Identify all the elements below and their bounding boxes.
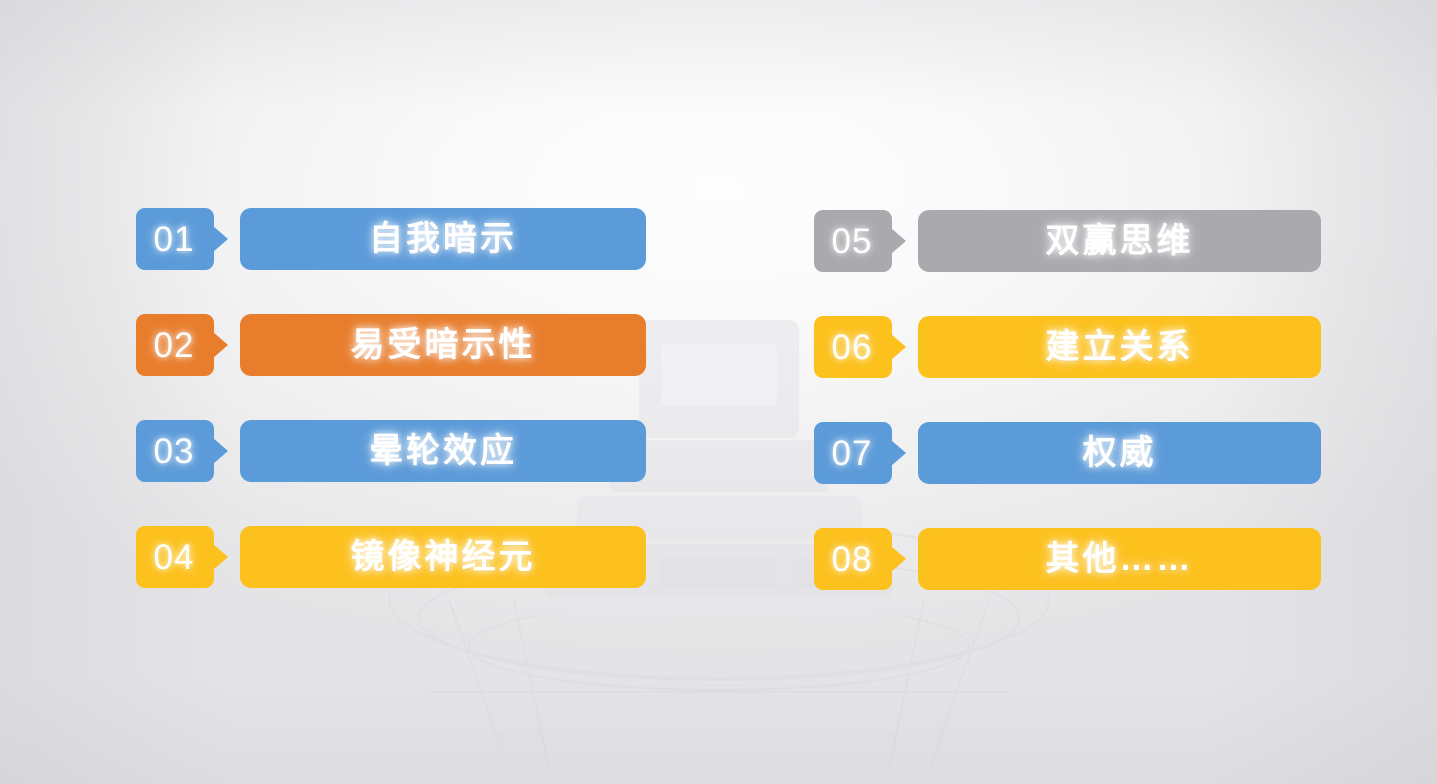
item-number-label: 05 <box>832 224 873 259</box>
item-label-bar[interactable]: 镜像神经元 <box>240 526 646 588</box>
item-number-label: 04 <box>154 540 195 575</box>
item-label-bar[interactable]: 晕轮效应 <box>240 420 646 482</box>
list-item[interactable]: 01自我暗示 <box>136 208 646 270</box>
left-column: 01自我暗示02易受暗示性03晕轮效应04镜像神经元 <box>136 0 646 784</box>
item-number-badge[interactable]: 01 <box>136 208 214 270</box>
item-number-badge[interactable]: 06 <box>814 316 892 378</box>
item-label-bar[interactable]: 易受暗示性 <box>240 314 646 376</box>
item-number-label: 07 <box>832 436 873 471</box>
list-item[interactable]: 07权威 <box>814 422 1324 484</box>
slide-canvas: 01自我暗示02易受暗示性03晕轮效应04镜像神经元 05双赢思维06建立关系0… <box>0 0 1437 784</box>
item-number-badge[interactable]: 04 <box>136 526 214 588</box>
list-item[interactable]: 04镜像神经元 <box>136 526 646 588</box>
list-item[interactable]: 02易受暗示性 <box>136 314 646 376</box>
item-number-badge[interactable]: 07 <box>814 422 892 484</box>
item-label-bar[interactable]: 建立关系 <box>918 316 1321 378</box>
item-label-bar[interactable]: 权威 <box>918 422 1321 484</box>
item-title-text: 易受暗示性 <box>351 328 536 362</box>
list-item[interactable]: 03晕轮效应 <box>136 420 646 482</box>
right-column: 05双赢思维06建立关系07权威08其他…… <box>814 0 1324 784</box>
list-item[interactable]: 06建立关系 <box>814 316 1324 378</box>
item-number-label: 02 <box>154 328 195 363</box>
item-number-label: 01 <box>154 222 195 257</box>
item-title-text: 其他…… <box>1046 542 1194 576</box>
item-title-text: 权威 <box>1083 436 1157 470</box>
item-title-text: 镜像神经元 <box>351 540 536 574</box>
item-number-badge[interactable]: 08 <box>814 528 892 590</box>
item-title-text: 双赢思维 <box>1046 224 1194 258</box>
item-label-bar[interactable]: 自我暗示 <box>240 208 646 270</box>
item-number-label: 06 <box>832 330 873 365</box>
item-number-label: 08 <box>832 542 873 577</box>
list-item[interactable]: 05双赢思维 <box>814 210 1324 272</box>
item-title-text: 晕轮效应 <box>369 434 517 468</box>
item-number-badge[interactable]: 03 <box>136 420 214 482</box>
item-title-text: 建立关系 <box>1046 330 1194 364</box>
item-label-bar[interactable]: 双赢思维 <box>918 210 1321 272</box>
item-label-bar[interactable]: 其他…… <box>918 528 1321 590</box>
list-item[interactable]: 08其他…… <box>814 528 1324 590</box>
item-number-badge[interactable]: 05 <box>814 210 892 272</box>
item-number-label: 03 <box>154 434 195 469</box>
item-title-text: 自我暗示 <box>369 222 517 256</box>
item-number-badge[interactable]: 02 <box>136 314 214 376</box>
